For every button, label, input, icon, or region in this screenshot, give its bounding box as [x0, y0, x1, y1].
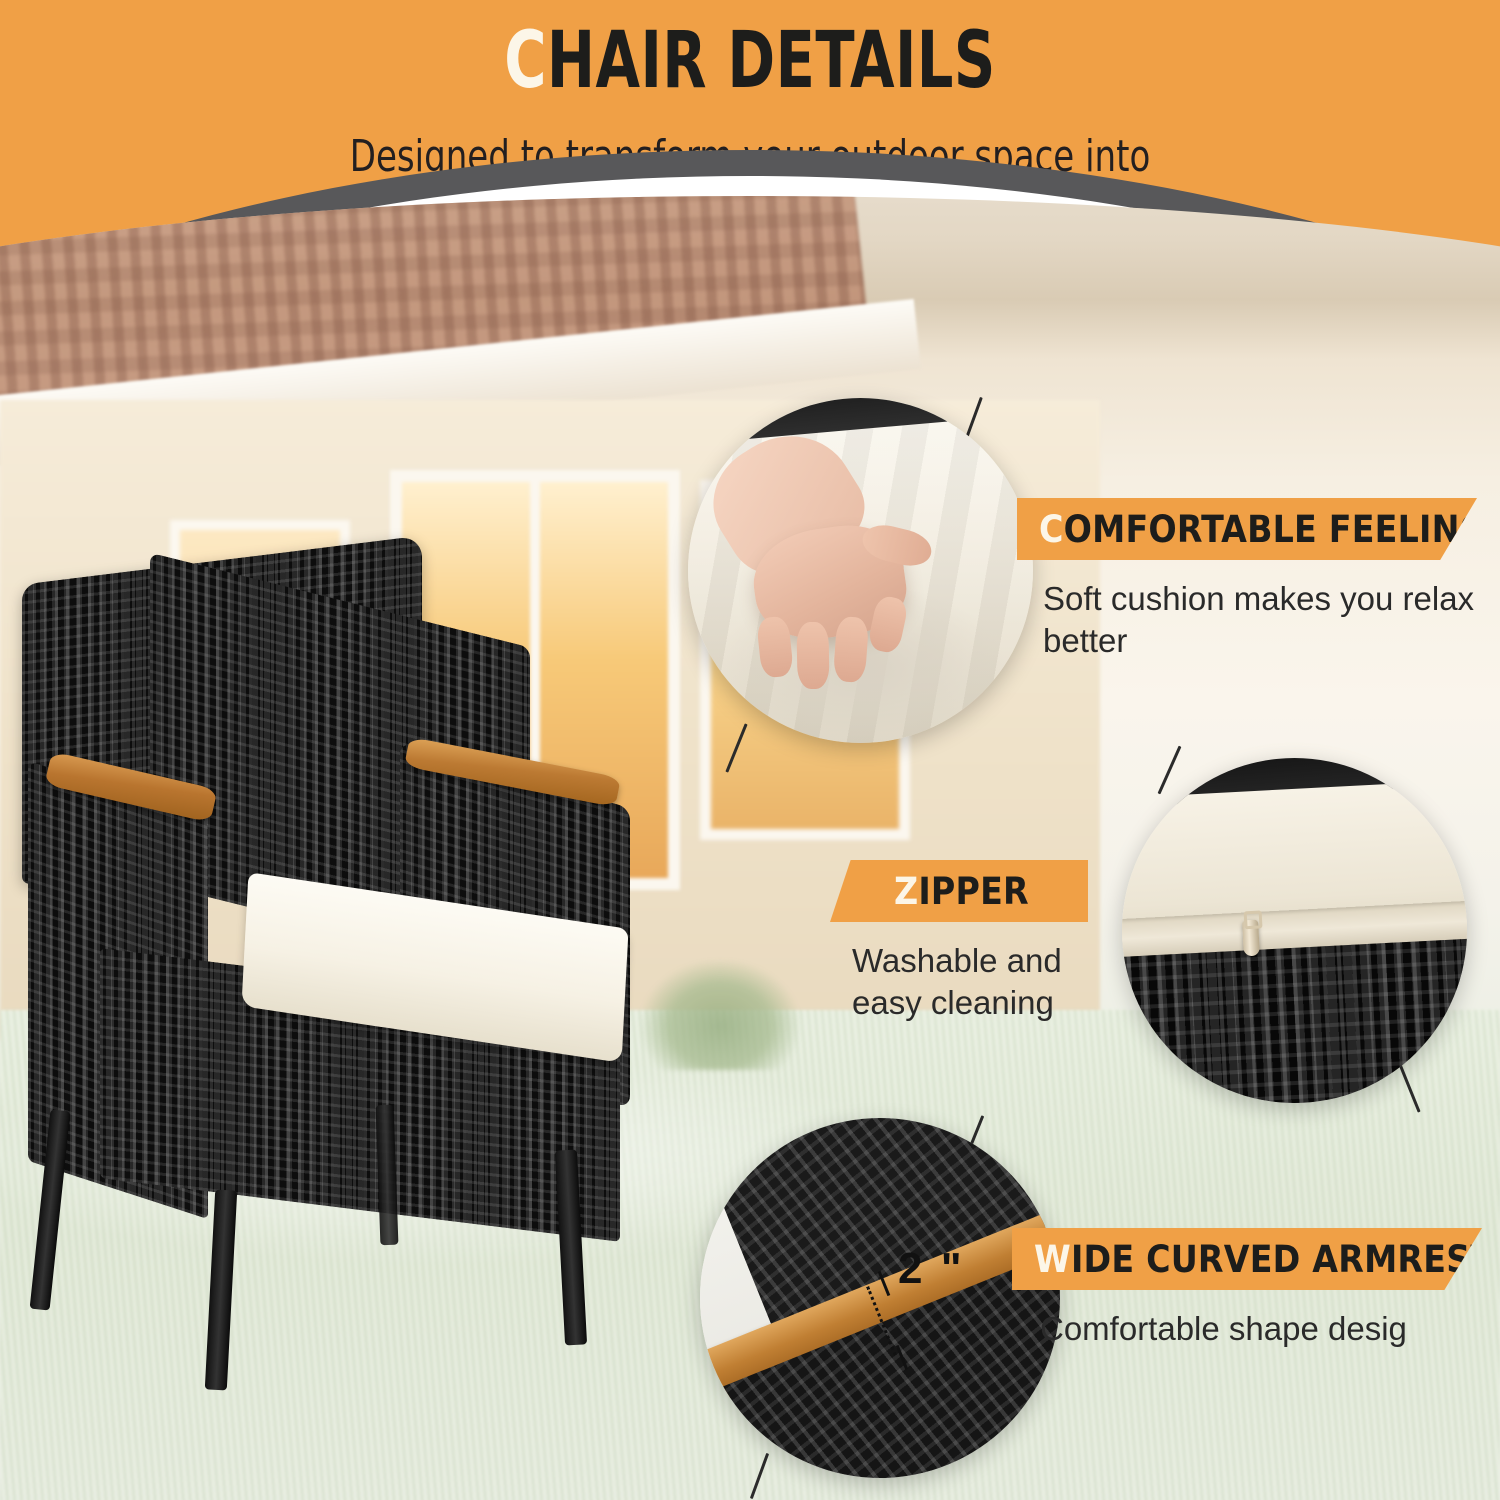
feature-block-comfortable-feeling: COMFORTABLE FEELING Soft cushion makes y… [1017, 498, 1477, 662]
page-title: CHAIR DETAILS [135, 22, 1365, 100]
feature-block-armrest: WIDE CURVED ARMREST Comfortable shape de… [1012, 1228, 1482, 1350]
hand-on-cushion [695, 453, 964, 701]
feature-description-armrest: Comfortable shape desig [1012, 1308, 1482, 1350]
dimension-label: 2 " [898, 1244, 965, 1294]
finger-3 [833, 616, 870, 683]
feature-block-zipper: ZIPPER Washable and easy cleaning [830, 860, 1088, 1024]
infographic-page: CHAIR DETAILS Designed to transform your… [0, 0, 1500, 1500]
chair-leg-front-left [205, 1190, 237, 1391]
feature-description-comfortable-feeling: Soft cushion makes you relax better [1017, 578, 1477, 662]
zipper-pull-icon [1242, 920, 1260, 957]
feature-title-rest: IDE CURVED ARMREST [1071, 1238, 1493, 1281]
feature-photo-zipper [1122, 758, 1467, 1103]
page-title-lead-letter: C [504, 16, 547, 106]
feature-title-banner-comfortable-feeling: COMFORTABLE FEELING [1017, 498, 1477, 560]
finger-2 [797, 622, 830, 690]
zipper-rattan-base [1122, 938, 1467, 1103]
feature-title-lead-letter: Z [894, 870, 918, 913]
feature-title-lead-letter: W [1034, 1238, 1071, 1281]
feature-title-rest: IPPER [918, 870, 1029, 913]
feature-description-zipper: Washable and easy cleaning [830, 940, 1088, 1024]
feature-title-banner-zipper: ZIPPER [830, 860, 1088, 922]
feature-title-banner-armrest: WIDE CURVED ARMREST [1012, 1228, 1482, 1290]
feature-photo-armrest: 2 " [700, 1118, 1060, 1478]
feature-title-lead-letter: C [1039, 508, 1064, 551]
feature-photo-comfortable-feeling [688, 398, 1033, 743]
feature-title-rest: OMFORTABLE FEELING [1064, 508, 1488, 551]
cushion-dark-edge [688, 398, 1033, 447]
patio-chair [0, 196, 720, 1500]
page-title-rest: HAIR DETAILS [547, 16, 996, 106]
